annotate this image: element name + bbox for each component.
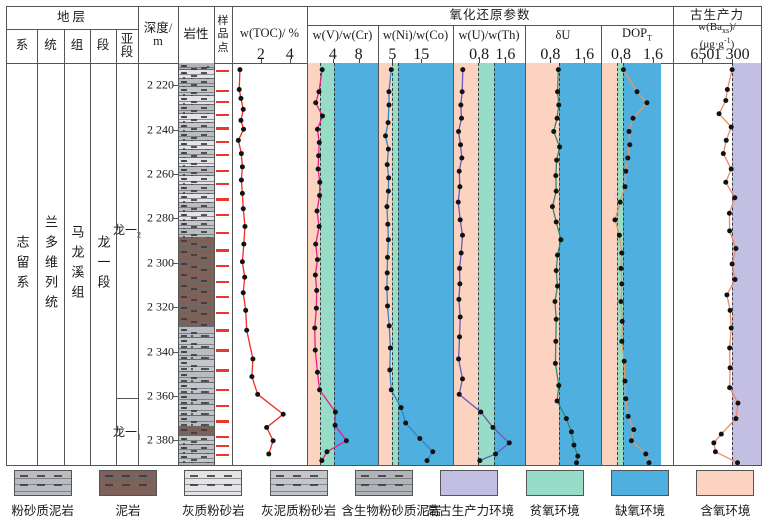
legend-strip [271, 491, 327, 492]
data-point [313, 348, 318, 353]
lithology-dot [183, 134, 185, 136]
data-point [238, 96, 243, 101]
data-point [385, 222, 390, 227]
depth-tick-label: 2 360 [147, 388, 174, 403]
track-dop-t [601, 63, 673, 465]
sample-point-tick [216, 405, 229, 407]
data-point [626, 414, 631, 419]
data-point [241, 206, 246, 211]
data-point [316, 167, 321, 172]
data-point [735, 401, 740, 406]
lithology-dot [191, 346, 193, 348]
lithology-dash [191, 310, 197, 312]
data-point [622, 359, 627, 364]
data-point [237, 67, 242, 72]
data-point [725, 87, 730, 92]
legend-dash [361, 475, 369, 477]
lithology-dash [191, 92, 197, 94]
legend-dash [276, 475, 284, 477]
strat-tong-value: 兰多维列统 [37, 63, 64, 467]
lithology-dot [183, 65, 185, 67]
data-point [728, 308, 733, 313]
lithology-dot [191, 424, 193, 426]
data-point [631, 427, 636, 432]
lithology-dot [183, 143, 185, 145]
legend-strip [356, 491, 412, 492]
data-point [553, 173, 558, 178]
lithology-band [178, 132, 214, 141]
lithology-dash [201, 313, 207, 315]
data-point [425, 458, 430, 463]
data-point [242, 275, 247, 280]
sample-point-tick [216, 183, 229, 185]
curve-dop_t [601, 63, 673, 465]
vcr-header-title: w(V)/w(Cr) [307, 25, 378, 46]
data-point [629, 438, 634, 443]
lithology-dash [201, 231, 207, 233]
data-point [507, 440, 512, 445]
sample-point-tick [216, 232, 229, 234]
legend-swatch [14, 470, 72, 496]
lithology-dash [191, 441, 197, 443]
data-point [241, 290, 246, 295]
lithology-dash [201, 291, 207, 293]
lithology-band [178, 70, 214, 79]
lithology-dash [191, 181, 197, 183]
sample-point-tick [216, 114, 229, 116]
lithology-dash [201, 125, 207, 127]
data-point [239, 178, 244, 183]
lithology-dash [191, 119, 197, 121]
lithology-dash [201, 187, 207, 189]
legend: 粉砂质泥岩泥岩灰质粉砂岩灰泥质粉砂岩含生物粉砂质泥岩高古生产力环境贫氧环境缺氧环… [0, 470, 768, 529]
lithology-dash [181, 368, 187, 370]
data-point [241, 107, 246, 112]
legend-dash [20, 475, 28, 477]
lithology-dash [201, 160, 207, 162]
sample-point-tick [216, 329, 229, 331]
strat-yaduan-lower: 龙一1 [116, 398, 138, 467]
sample-point-tick [216, 249, 229, 251]
data-point [314, 288, 319, 293]
lithology-dash [191, 137, 197, 139]
lithology-dash [191, 432, 197, 434]
data-point [387, 368, 392, 373]
data-point [724, 138, 729, 143]
legend-strip [15, 478, 71, 479]
data-point [385, 270, 390, 275]
legend-strip [185, 491, 241, 492]
lithology-dash [201, 72, 207, 74]
lithology-band [178, 360, 214, 371]
legend-swatch [526, 470, 584, 496]
lithology-dash [191, 146, 197, 148]
data-point [457, 334, 462, 339]
data-point [457, 266, 462, 271]
lithology-dot [191, 357, 193, 359]
legend-label: 高古生产力环境 [427, 500, 512, 519]
data-point [313, 273, 318, 278]
lithology-dash [201, 456, 207, 458]
data-point [647, 460, 652, 465]
lithology-dash [191, 399, 197, 401]
data-point [555, 253, 560, 258]
sample-point-tick [216, 214, 229, 216]
lithology-dot [183, 125, 185, 127]
lithology-band [178, 203, 214, 212]
lithology-dash [181, 318, 187, 320]
data-point [239, 151, 244, 156]
legend-strip [185, 478, 241, 479]
data-point [417, 436, 422, 441]
curve-ni_co [378, 63, 453, 465]
legend-strip [15, 491, 71, 492]
lithology-band [178, 167, 214, 176]
data-point [619, 339, 624, 344]
data-point [241, 242, 246, 247]
lithology-dot [183, 196, 185, 198]
legend-label: 粉砂质泥岩 [0, 500, 85, 519]
lithology-dot [207, 424, 209, 426]
data-point [619, 250, 624, 255]
lithology-dash [191, 110, 197, 112]
data-point [613, 217, 618, 222]
lithology-dash [181, 263, 187, 265]
data-point [240, 191, 245, 196]
depth-tick-label: 2 300 [147, 255, 174, 270]
data-point [553, 339, 558, 344]
data-point [384, 204, 389, 209]
legend-label: 泥岩 [85, 500, 170, 519]
lithology-band [178, 150, 214, 159]
depth-tick-label: 2 280 [147, 211, 174, 226]
legend-dash [395, 484, 403, 486]
legend-strip [356, 478, 412, 479]
data-point [724, 292, 729, 297]
lithology-band [178, 305, 214, 316]
track-delta-u [525, 63, 601, 465]
data-point [733, 416, 738, 421]
legend-item: 高古生产力环境 [427, 470, 512, 519]
sample-point-tick [216, 141, 229, 143]
sample-point-tick [216, 198, 229, 200]
lithology-dash [191, 234, 197, 236]
lithology-dot [191, 368, 193, 370]
legend-dash [37, 475, 45, 477]
lithology-dash [201, 280, 207, 282]
legend-dash [122, 484, 130, 486]
lithology-dash [201, 178, 207, 180]
data-point [556, 67, 561, 72]
data-point [727, 385, 732, 390]
legend-dash [190, 475, 198, 477]
lithology-dash [201, 429, 207, 431]
lithology-band [178, 221, 214, 230]
sample-point-tick [216, 90, 229, 92]
data-point [554, 317, 559, 322]
legend-item: 含氧环境 [683, 470, 768, 519]
data-point [717, 111, 722, 116]
lithology-band [178, 194, 214, 203]
data-point [244, 328, 249, 333]
data-point [386, 189, 391, 194]
lithology-dot [191, 380, 193, 382]
data-point [555, 284, 560, 289]
data-point [317, 193, 322, 198]
lithology-dash [191, 421, 197, 423]
lithology-dash [201, 143, 207, 145]
lithology-dash [181, 402, 187, 404]
data-point [314, 306, 319, 311]
data-point [457, 281, 462, 286]
legend-swatch [696, 470, 754, 496]
lithology-band [178, 79, 214, 88]
data-point [556, 102, 561, 107]
lithology-band [178, 349, 214, 360]
data-point [555, 398, 560, 403]
data-point [266, 451, 271, 456]
lithology-band [178, 436, 214, 445]
data-point [384, 286, 389, 291]
lithology-band [178, 427, 214, 436]
data-point [623, 396, 628, 401]
data-point [333, 423, 338, 428]
data-point [729, 167, 734, 172]
lithology-dash [191, 450, 197, 452]
data-point [313, 242, 318, 247]
data-point [250, 356, 255, 361]
lithology-dot [183, 152, 185, 154]
lithology-dash [191, 243, 197, 245]
data-point [456, 129, 461, 134]
data-point [729, 326, 734, 331]
strat-yaduan-upper: 龙一2 [116, 63, 138, 398]
data-point [457, 392, 462, 397]
data-point [571, 443, 576, 448]
lithology-band [178, 283, 214, 294]
lithology-dash [191, 84, 197, 86]
legend-label: 含生物粉砂质泥岩 [341, 500, 426, 519]
legend-dash [276, 484, 284, 486]
lithology-header: 岩性 [178, 7, 214, 63]
lithology-dash [201, 223, 207, 225]
lithology-band [178, 141, 214, 150]
lithology-dash [201, 447, 207, 449]
legend-dash [139, 484, 147, 486]
lithology-dash [201, 438, 207, 440]
data-point [645, 100, 650, 105]
data-point [456, 356, 461, 361]
data-point [344, 438, 349, 443]
sample-point-tick [216, 281, 229, 283]
data-point [727, 345, 732, 350]
sample-point-tick [216, 389, 229, 391]
lithology-band [178, 229, 214, 238]
data-point [315, 370, 320, 375]
data-point [490, 425, 495, 430]
legend-dash [224, 475, 232, 477]
legend-item: 缺氧环境 [597, 470, 682, 519]
lithology-dash [181, 429, 187, 431]
toc-header-title: w(TOC)/ % [232, 23, 307, 45]
data-point [558, 237, 563, 242]
data-point [554, 158, 559, 163]
lithology-dash [181, 380, 187, 382]
lithology-dash [191, 155, 197, 157]
data-point [317, 387, 322, 392]
legend-label: 缺氧环境 [597, 500, 682, 519]
data-point [264, 425, 269, 430]
lithology-band [178, 87, 214, 96]
depth-tick-label: 2 220 [147, 78, 174, 93]
depth-tick-label: 2 380 [147, 433, 174, 448]
lithology-dash [191, 288, 197, 290]
lithology-dash [191, 75, 197, 77]
curve-u_th [453, 63, 525, 465]
sample-point-tick [216, 127, 229, 129]
lithology-band [178, 261, 214, 272]
track-toc [232, 63, 307, 465]
data-point [733, 246, 738, 251]
lithology-dash [181, 413, 187, 415]
lithology-dot [207, 413, 209, 415]
lithology-dash [201, 246, 207, 248]
lithology-dash [201, 205, 207, 207]
curve-toc [232, 63, 307, 465]
lithology-dash [181, 357, 187, 359]
strat-group-title: 地层 [7, 7, 138, 29]
legend-dash [293, 484, 301, 486]
data-point [457, 169, 462, 174]
data-point [728, 365, 733, 370]
legend-dash [378, 475, 386, 477]
sample-point-tick [216, 70, 229, 72]
lithology-dot [207, 391, 209, 393]
data-point [460, 89, 465, 94]
lithology-dash [181, 285, 187, 287]
data-point [386, 175, 391, 180]
lithology-dot [207, 402, 209, 404]
sample-point-tick [216, 436, 229, 438]
data-point [618, 200, 623, 205]
data-point [313, 100, 318, 105]
sample-point-tick [216, 296, 229, 298]
legend-strip [100, 491, 156, 492]
legend-dash [122, 475, 130, 477]
data-point [386, 89, 391, 94]
data-point [386, 120, 391, 125]
curve-delta_u [525, 63, 601, 465]
data-point [315, 127, 320, 132]
sample-point-tick [216, 445, 229, 447]
lithology-dot [191, 391, 193, 393]
data-point [430, 449, 435, 454]
data-point [550, 204, 555, 209]
lithology-dash [181, 335, 187, 337]
legend-dash [207, 475, 215, 477]
data-point [460, 376, 465, 381]
lithology-band [178, 123, 214, 132]
lithology-band [178, 176, 214, 185]
legend-item: 粉砂质泥岩 [0, 470, 85, 519]
strat-col-duan: 段 [90, 29, 116, 63]
legend-label: 贫氧环境 [512, 500, 597, 519]
data-point [723, 98, 728, 103]
data-point [554, 189, 559, 194]
legend-item: 贫氧环境 [512, 470, 597, 519]
lithology-dash [191, 226, 197, 228]
lithology-dash [181, 296, 187, 298]
data-point [551, 129, 556, 134]
legend-swatch [270, 470, 328, 496]
lithology-dash [201, 257, 207, 259]
lithology-dash [191, 277, 197, 279]
data-point [730, 67, 735, 72]
data-point [553, 361, 558, 366]
lithology-band [178, 454, 214, 463]
data-point [319, 458, 324, 463]
lithology-dot [183, 385, 185, 387]
lithology-band [178, 105, 214, 114]
lithology-dash [201, 269, 207, 271]
lithology-dash [181, 240, 187, 242]
uth-header-title: w(U)/w(Th) [453, 25, 525, 46]
lithology-band [178, 405, 214, 416]
data-point [389, 387, 394, 392]
data-point [569, 429, 574, 434]
legend-strip [100, 478, 156, 479]
data-point [255, 392, 260, 397]
data-point [733, 277, 738, 282]
data-point [619, 266, 624, 271]
data-point [627, 142, 632, 147]
lithology-dot [183, 396, 185, 398]
data-point [459, 250, 464, 255]
subsegment-boundary-line [116, 398, 138, 399]
data-point [458, 217, 463, 222]
lithology-band [178, 238, 214, 249]
strat-col-zu: 组 [64, 29, 90, 63]
lithology-dot [183, 223, 185, 225]
legend-dash [20, 484, 28, 486]
lithology-dash [191, 208, 197, 210]
lithology-dash [201, 81, 207, 83]
chart-frame: 地层 系 统 组 段 亚段 深度/ m 岩性 样 [6, 6, 762, 466]
lithology-dot [183, 407, 185, 409]
lithology-dash [181, 274, 187, 276]
legend-dash [293, 475, 301, 477]
data-point [325, 449, 330, 454]
data-point [556, 383, 561, 388]
data-point [386, 237, 391, 242]
strat-xi-value: 志留系 [7, 63, 37, 467]
lithology-dot [183, 438, 185, 440]
legend-swatch [184, 470, 242, 496]
lithology-dash [181, 346, 187, 348]
data-point [389, 67, 394, 72]
data-point [557, 144, 562, 149]
data-point [727, 228, 732, 233]
track-ni-co [378, 63, 453, 465]
curve-ba_xs [673, 63, 761, 465]
legend-dash [310, 484, 318, 486]
legend-item: 含生物粉砂质泥岩 [341, 470, 426, 519]
data-point [575, 454, 580, 459]
data-point [249, 374, 254, 379]
data-point [458, 315, 463, 320]
legend-swatch [611, 470, 669, 496]
lithology-dash [191, 388, 197, 390]
